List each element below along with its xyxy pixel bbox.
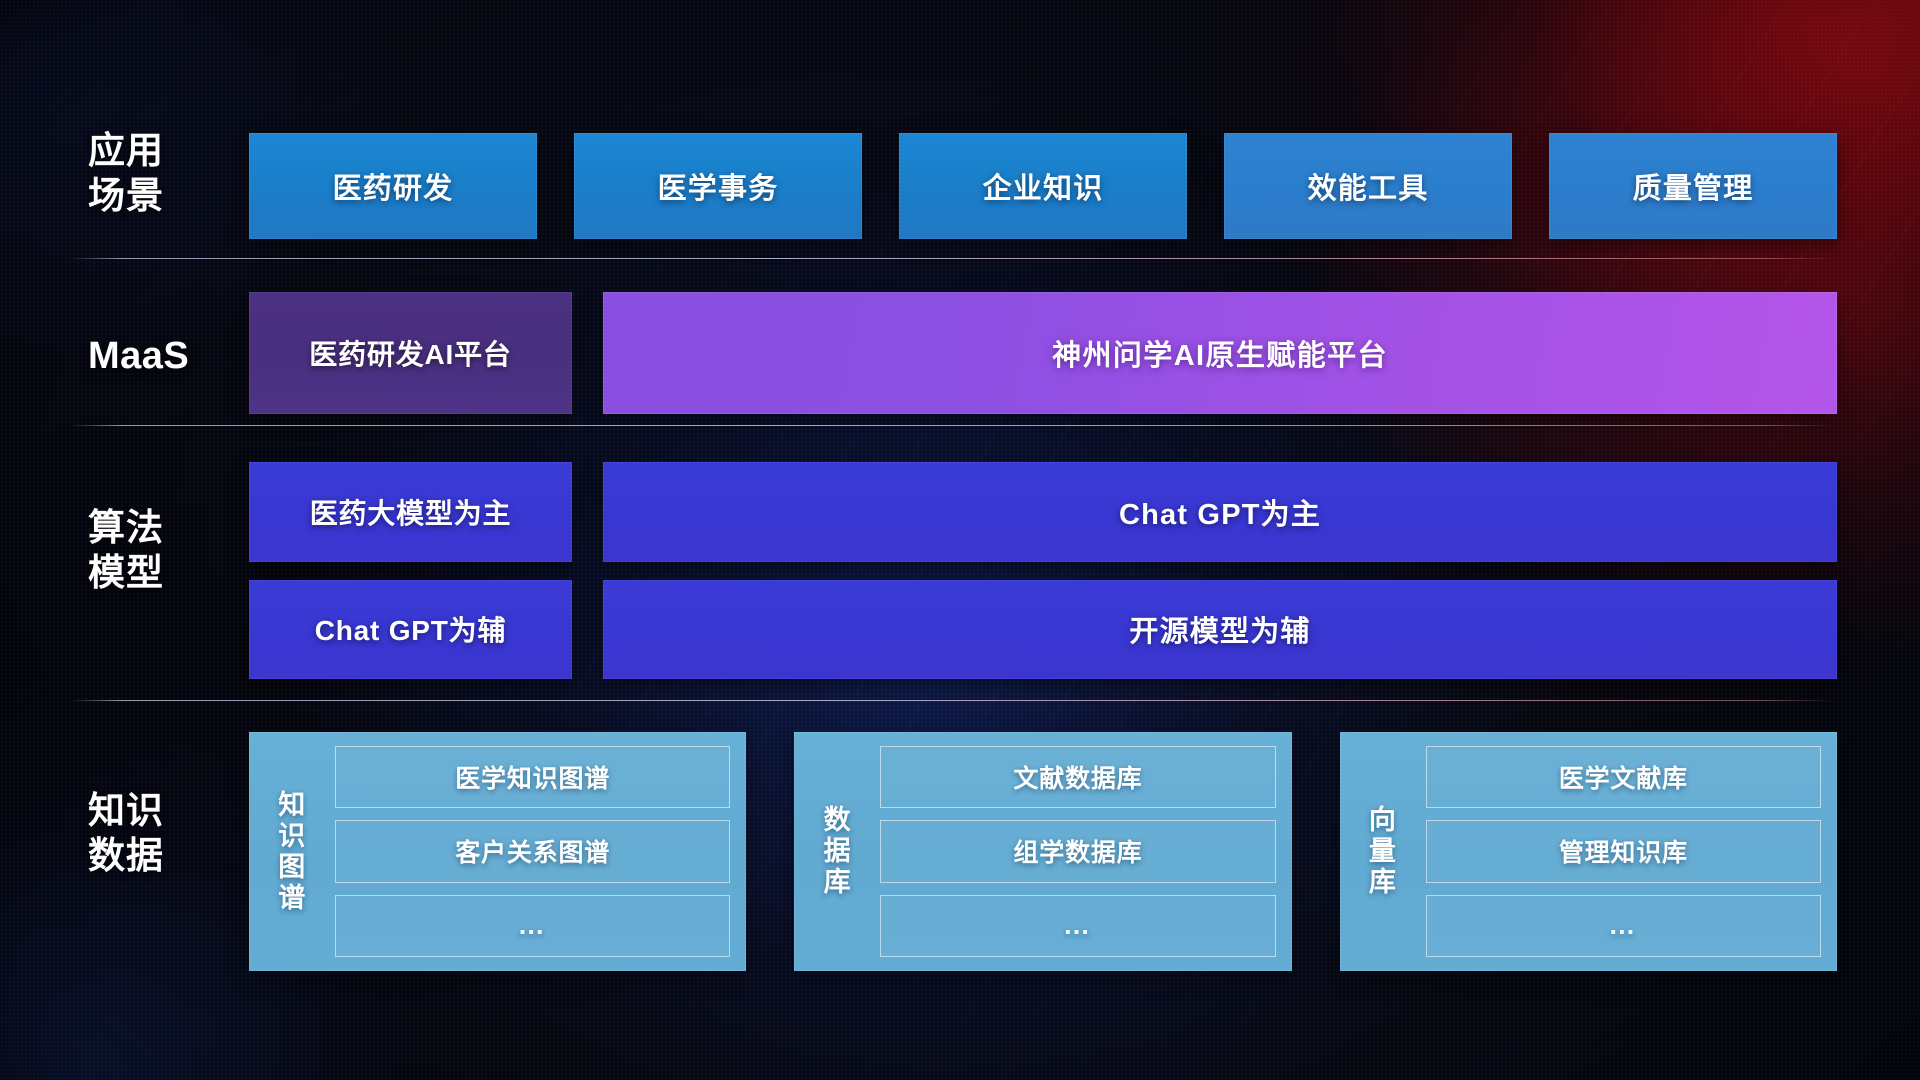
app-card-quality-management[interactable]: 质量管理 bbox=[1549, 133, 1837, 239]
divider-algorithm-knowledge bbox=[70, 700, 1835, 701]
knowledge-item[interactable]: 客户关系图谱 bbox=[335, 820, 730, 882]
algorithm-card-label: 开源模型为辅 bbox=[1129, 608, 1310, 650]
architecture-diagram: 应用 场景 医药研发 医学事务 企业知识 效能工具 质量管理 MaaS 医药研发… bbox=[0, 0, 1920, 1080]
maas-card-pharma-ai-platform[interactable]: 医药研发AI平台 bbox=[249, 292, 572, 414]
knowledge-data-row: 知 识 图 谱 医学知识图谱 客户关系图谱 … 数 据 库 文献数据库 bbox=[249, 732, 1837, 971]
row-label-maas: MaaS bbox=[88, 334, 238, 379]
maas-card-shenzhou-wenxue-platform[interactable]: 神州问学AI原生赋能平台 bbox=[603, 292, 1837, 414]
app-card-label: 质量管理 bbox=[1633, 165, 1754, 207]
knowledge-item-more[interactable]: … bbox=[1426, 895, 1821, 957]
algorithm-model-row: 医药大模型为主 Chat GPT为主 Chat GPT为辅 开源模型为辅 bbox=[249, 462, 1837, 679]
maas-card-label: 医药研发AI平台 bbox=[309, 333, 511, 373]
knowledge-item-more[interactable]: … bbox=[880, 895, 1275, 957]
knowledge-item-label: 客户关系图谱 bbox=[455, 833, 610, 869]
app-card-label: 医药研发 bbox=[333, 165, 454, 207]
app-card-medical-affairs[interactable]: 医学事务 bbox=[574, 133, 862, 239]
knowledge-item[interactable]: 文献数据库 bbox=[880, 746, 1275, 808]
row-label-knowledge: 知识 数据 bbox=[88, 788, 238, 878]
divider-application-maas bbox=[70, 258, 1835, 259]
knowledge-item-label: 文献数据库 bbox=[1013, 759, 1142, 795]
knowledge-item[interactable]: 管理知识库 bbox=[1426, 820, 1821, 882]
knowledge-group-title: 数 据 库 bbox=[806, 746, 868, 957]
maas-row: 医药研发AI平台 神州问学AI原生赋能平台 bbox=[249, 292, 1837, 414]
divider-maas-algorithm bbox=[70, 425, 1835, 426]
knowledge-item-label: 医学知识图谱 bbox=[455, 759, 610, 795]
row-label-application: 应用 场景 bbox=[88, 128, 238, 218]
knowledge-item-label: 医学文献库 bbox=[1559, 759, 1688, 795]
algorithm-card-chatgpt-primary[interactable]: Chat GPT为主 bbox=[603, 462, 1837, 562]
knowledge-item-list: 医学知识图谱 客户关系图谱 … bbox=[335, 746, 730, 957]
app-card-label: 医学事务 bbox=[658, 165, 779, 207]
app-card-enterprise-knowledge[interactable]: 企业知识 bbox=[899, 133, 1187, 239]
app-card-label: 企业知识 bbox=[983, 165, 1104, 207]
algorithm-card-label: Chat GPT为主 bbox=[1119, 491, 1321, 533]
maas-card-label: 神州问学AI原生赋能平台 bbox=[1052, 332, 1388, 374]
knowledge-item-label: … bbox=[1608, 910, 1638, 941]
algorithm-card-pharma-llm-primary[interactable]: 医药大模型为主 bbox=[249, 462, 572, 562]
algorithm-line-primary: 医药大模型为主 Chat GPT为主 bbox=[249, 462, 1837, 562]
knowledge-group-vector-store: 向 量 库 医学文献库 管理知识库 … bbox=[1340, 732, 1837, 971]
knowledge-item-list: 医学文献库 管理知识库 … bbox=[1426, 746, 1821, 957]
knowledge-group-database: 数 据 库 文献数据库 组学数据库 … bbox=[794, 732, 1291, 971]
knowledge-item-list: 文献数据库 组学数据库 … bbox=[880, 746, 1275, 957]
algorithm-card-label: 医药大模型为主 bbox=[310, 492, 512, 532]
knowledge-group-title: 知 识 图 谱 bbox=[261, 746, 323, 957]
algorithm-card-chatgpt-secondary[interactable]: Chat GPT为辅 bbox=[249, 580, 572, 680]
knowledge-item-label: … bbox=[1063, 910, 1093, 941]
knowledge-item-more[interactable]: … bbox=[335, 895, 730, 957]
app-card-efficiency-tools[interactable]: 效能工具 bbox=[1224, 133, 1512, 239]
application-scenario-row: 医药研发 医学事务 企业知识 效能工具 质量管理 bbox=[249, 133, 1837, 239]
algorithm-card-opensource-secondary[interactable]: 开源模型为辅 bbox=[603, 580, 1837, 680]
app-card-medicine-rd[interactable]: 医药研发 bbox=[249, 133, 537, 239]
knowledge-group-title: 向 量 库 bbox=[1352, 746, 1414, 957]
algorithm-line-secondary: Chat GPT为辅 开源模型为辅 bbox=[249, 580, 1837, 680]
knowledge-group-knowledge-graph: 知 识 图 谱 医学知识图谱 客户关系图谱 … bbox=[249, 732, 746, 971]
knowledge-item-label: 管理知识库 bbox=[1559, 833, 1688, 869]
app-card-label: 效能工具 bbox=[1308, 165, 1429, 207]
knowledge-item-label: … bbox=[518, 910, 548, 941]
knowledge-item[interactable]: 医学文献库 bbox=[1426, 746, 1821, 808]
algorithm-card-label: Chat GPT为辅 bbox=[315, 609, 507, 649]
knowledge-item-label: 组学数据库 bbox=[1013, 833, 1142, 869]
knowledge-item[interactable]: 医学知识图谱 bbox=[335, 746, 730, 808]
knowledge-item[interactable]: 组学数据库 bbox=[880, 820, 1275, 882]
row-label-algorithm: 算法 模型 bbox=[88, 505, 238, 595]
